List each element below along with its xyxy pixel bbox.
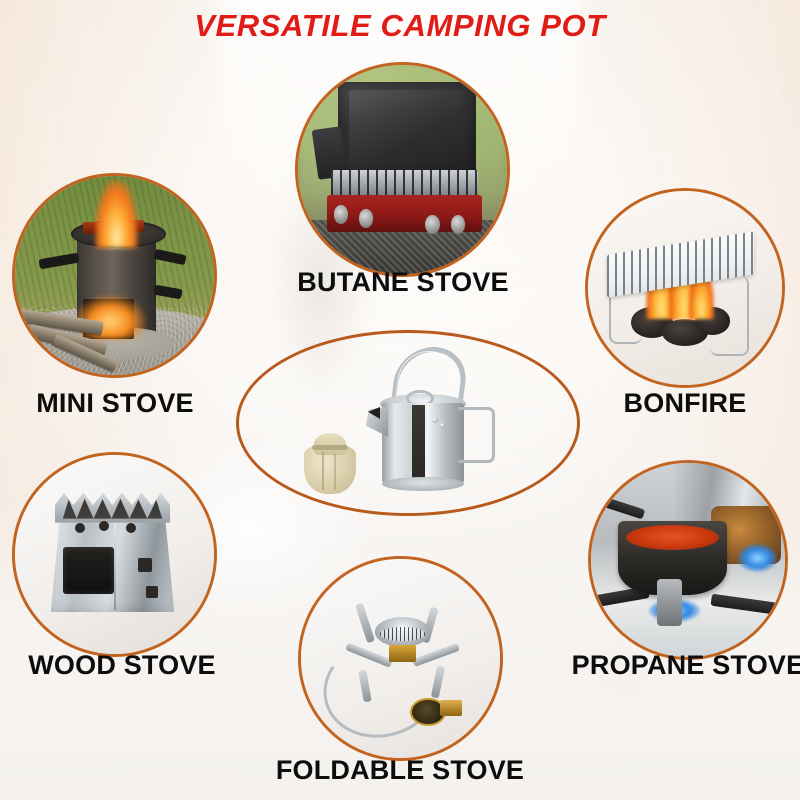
feature-label-propane-stove: PROPANE STOVE <box>568 650 800 681</box>
feature-label-butane-stove: BUTANE STOVE <box>263 267 543 298</box>
camping-pot <box>362 345 502 495</box>
feature-label-wood-stove: WOOD STOVE <box>0 650 252 681</box>
bonfire-grill-photo <box>585 188 785 388</box>
feature-label-mini-stove: MINI STOVE <box>0 388 245 419</box>
foldable-stove-photo <box>298 556 503 761</box>
product-infographic: VERSATILE CAMPING POT BUTANE STOVE <box>0 0 800 800</box>
propane-stove-photo <box>588 460 788 660</box>
page-title: VERSATILE CAMPING POT <box>0 8 800 44</box>
storage-bag <box>300 432 360 494</box>
wood-stove-photo <box>12 452 217 657</box>
feature-label-foldable-stove: FOLDABLE STOVE <box>255 755 545 786</box>
mini-stove-photo <box>12 173 217 378</box>
butane-stove-photo <box>295 62 510 277</box>
feature-label-bonfire: BONFIRE <box>565 388 800 419</box>
